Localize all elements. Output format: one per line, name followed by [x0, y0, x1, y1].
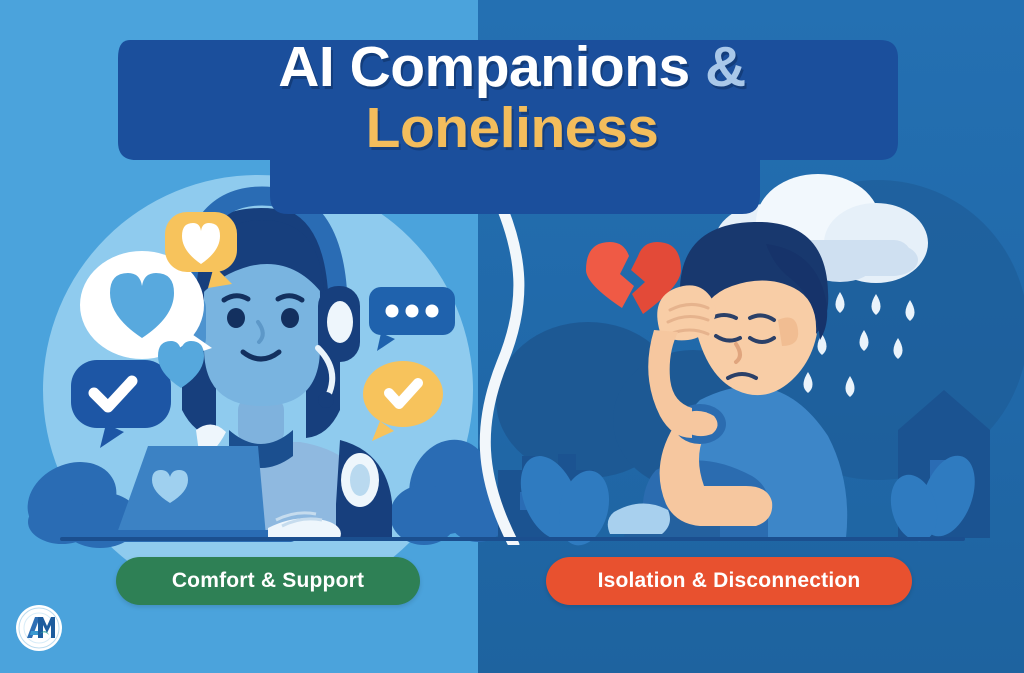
title-main-text: AI Companions: [278, 35, 690, 99]
ground-line: [60, 537, 965, 541]
am-logo[interactable]: [13, 602, 65, 654]
page-title-line-2: Loneliness: [366, 99, 659, 159]
poster-canvas: AI Companions & Loneliness Comfort & Sup…: [0, 0, 1024, 673]
comfort-support-badge[interactable]: Comfort & Support: [116, 557, 420, 605]
page-title-line-1: AI Companions &: [278, 38, 746, 97]
isolation-disconnection-badge[interactable]: Isolation & Disconnection: [546, 557, 912, 605]
title-ampersand: &: [705, 35, 746, 99]
comfort-support-label: Comfort & Support: [172, 569, 364, 593]
title-block: AI Companions & Loneliness: [0, 38, 1024, 208]
isolation-disconnection-label: Isolation & Disconnection: [598, 569, 861, 593]
